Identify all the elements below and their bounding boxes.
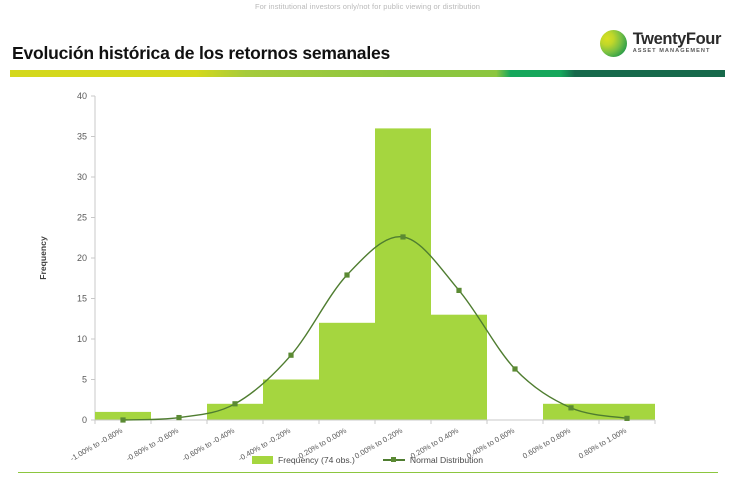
normal-distribution-marker [288,353,293,358]
normal-distribution-marker [512,366,517,371]
y-tick-label: 20 [77,253,87,263]
normal-distribution-marker [120,417,125,422]
normal-distribution-marker [568,405,573,410]
legend-label-frequency: Frequency (74 obs.) [278,455,355,465]
y-tick-label: 25 [77,213,87,223]
histogram-bar [319,323,375,420]
y-tick-label: 5 [82,375,87,385]
logo-tagline: ASSET MANAGEMENT [633,49,721,55]
y-tick-label: 10 [77,334,87,344]
y-tick-label: 40 [77,91,87,101]
legend-label-normal-distribution: Normal Distribution [410,455,483,465]
normal-distribution-marker [624,416,629,421]
y-tick-label: 35 [77,132,87,142]
y-tick-label: 30 [77,172,87,182]
normal-distribution-marker [456,288,461,293]
logo-text-block: TwentyFour ASSET MANAGEMENT [633,31,721,55]
normal-distribution-marker [400,234,405,239]
legend-bar-swatch-icon [252,456,273,464]
disclaimer-text: For institutional investors only/not for… [0,2,735,11]
legend-item-normal-distribution: Normal Distribution [383,455,483,465]
histogram-bar [375,128,431,420]
chart-canvas: 0510152025303540Frequency-1.00% to -0.80… [0,88,735,468]
y-tick-label: 0 [82,415,87,425]
footer-rule [18,472,718,473]
histogram-chart: 0510152025303540Frequency-1.00% to -0.80… [0,88,735,468]
page-title: Evolución histórica de los retornos sema… [12,43,390,64]
header-gradient-rule [10,70,725,77]
logo-company-name: TwentyFour [633,31,721,48]
logo-globe-icon [600,30,627,57]
legend-line-swatch-icon [383,456,405,464]
chart-legend: Frequency (74 obs.) Normal Distribution [0,455,735,465]
normal-distribution-marker [232,401,237,406]
normal-distribution-marker [344,272,349,277]
legend-item-frequency: Frequency (74 obs.) [252,455,355,465]
y-axis-title: Frequency [38,236,48,280]
histogram-bar [431,315,487,420]
brand-logo: TwentyFour ASSET MANAGEMENT [600,26,721,60]
histogram-bar [263,380,319,421]
normal-distribution-marker [176,415,181,420]
y-tick-label: 15 [77,294,87,304]
